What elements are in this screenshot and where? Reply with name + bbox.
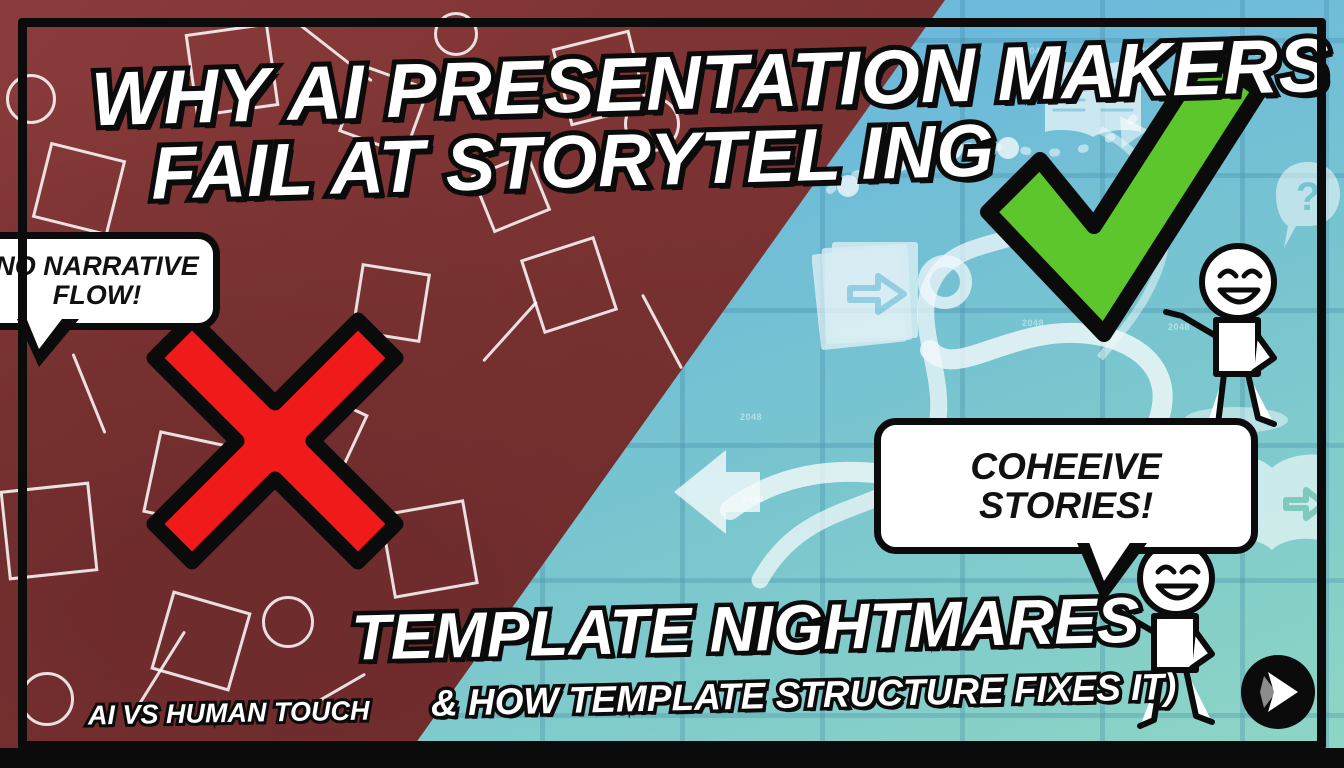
play-button[interactable]	[1240, 654, 1316, 730]
stacked-slides-arrow-icon	[812, 232, 942, 360]
bottom-headline-line-1: Template Nightmares	[351, 583, 1112, 674]
svg-text:?: ?	[1296, 175, 1320, 219]
bottom-left-caption: AI vs Human Touch	[88, 696, 370, 732]
bubble-left-line-1: No Narrative	[0, 252, 199, 281]
headline: Why AI Presentation Makers Fail at Story…	[90, 39, 1054, 210]
bottom-headline: Template Nightmares & how template struc…	[351, 583, 1114, 726]
smiling-stick-figure-pointing	[1158, 238, 1308, 438]
red-x-mark	[140, 306, 410, 576]
bottom-bar	[0, 748, 1344, 768]
bubble-right-line-2: Stories!	[979, 486, 1153, 525]
thumbnail-canvas: 2048 2048 2048 2048 2048 2048 2048 2048	[0, 0, 1344, 768]
bubble-tail	[17, 319, 79, 367]
bubble-left-line-2: Flow!	[53, 281, 141, 310]
bubble-tail	[1077, 543, 1147, 603]
bubble-right-line-1: Coheeive	[970, 447, 1161, 486]
speech-bubble-no-narrative-flow: No Narrative Flow!	[0, 232, 220, 330]
speech-bubble-cohesive-stories: Coheeive Stories!	[874, 418, 1258, 554]
